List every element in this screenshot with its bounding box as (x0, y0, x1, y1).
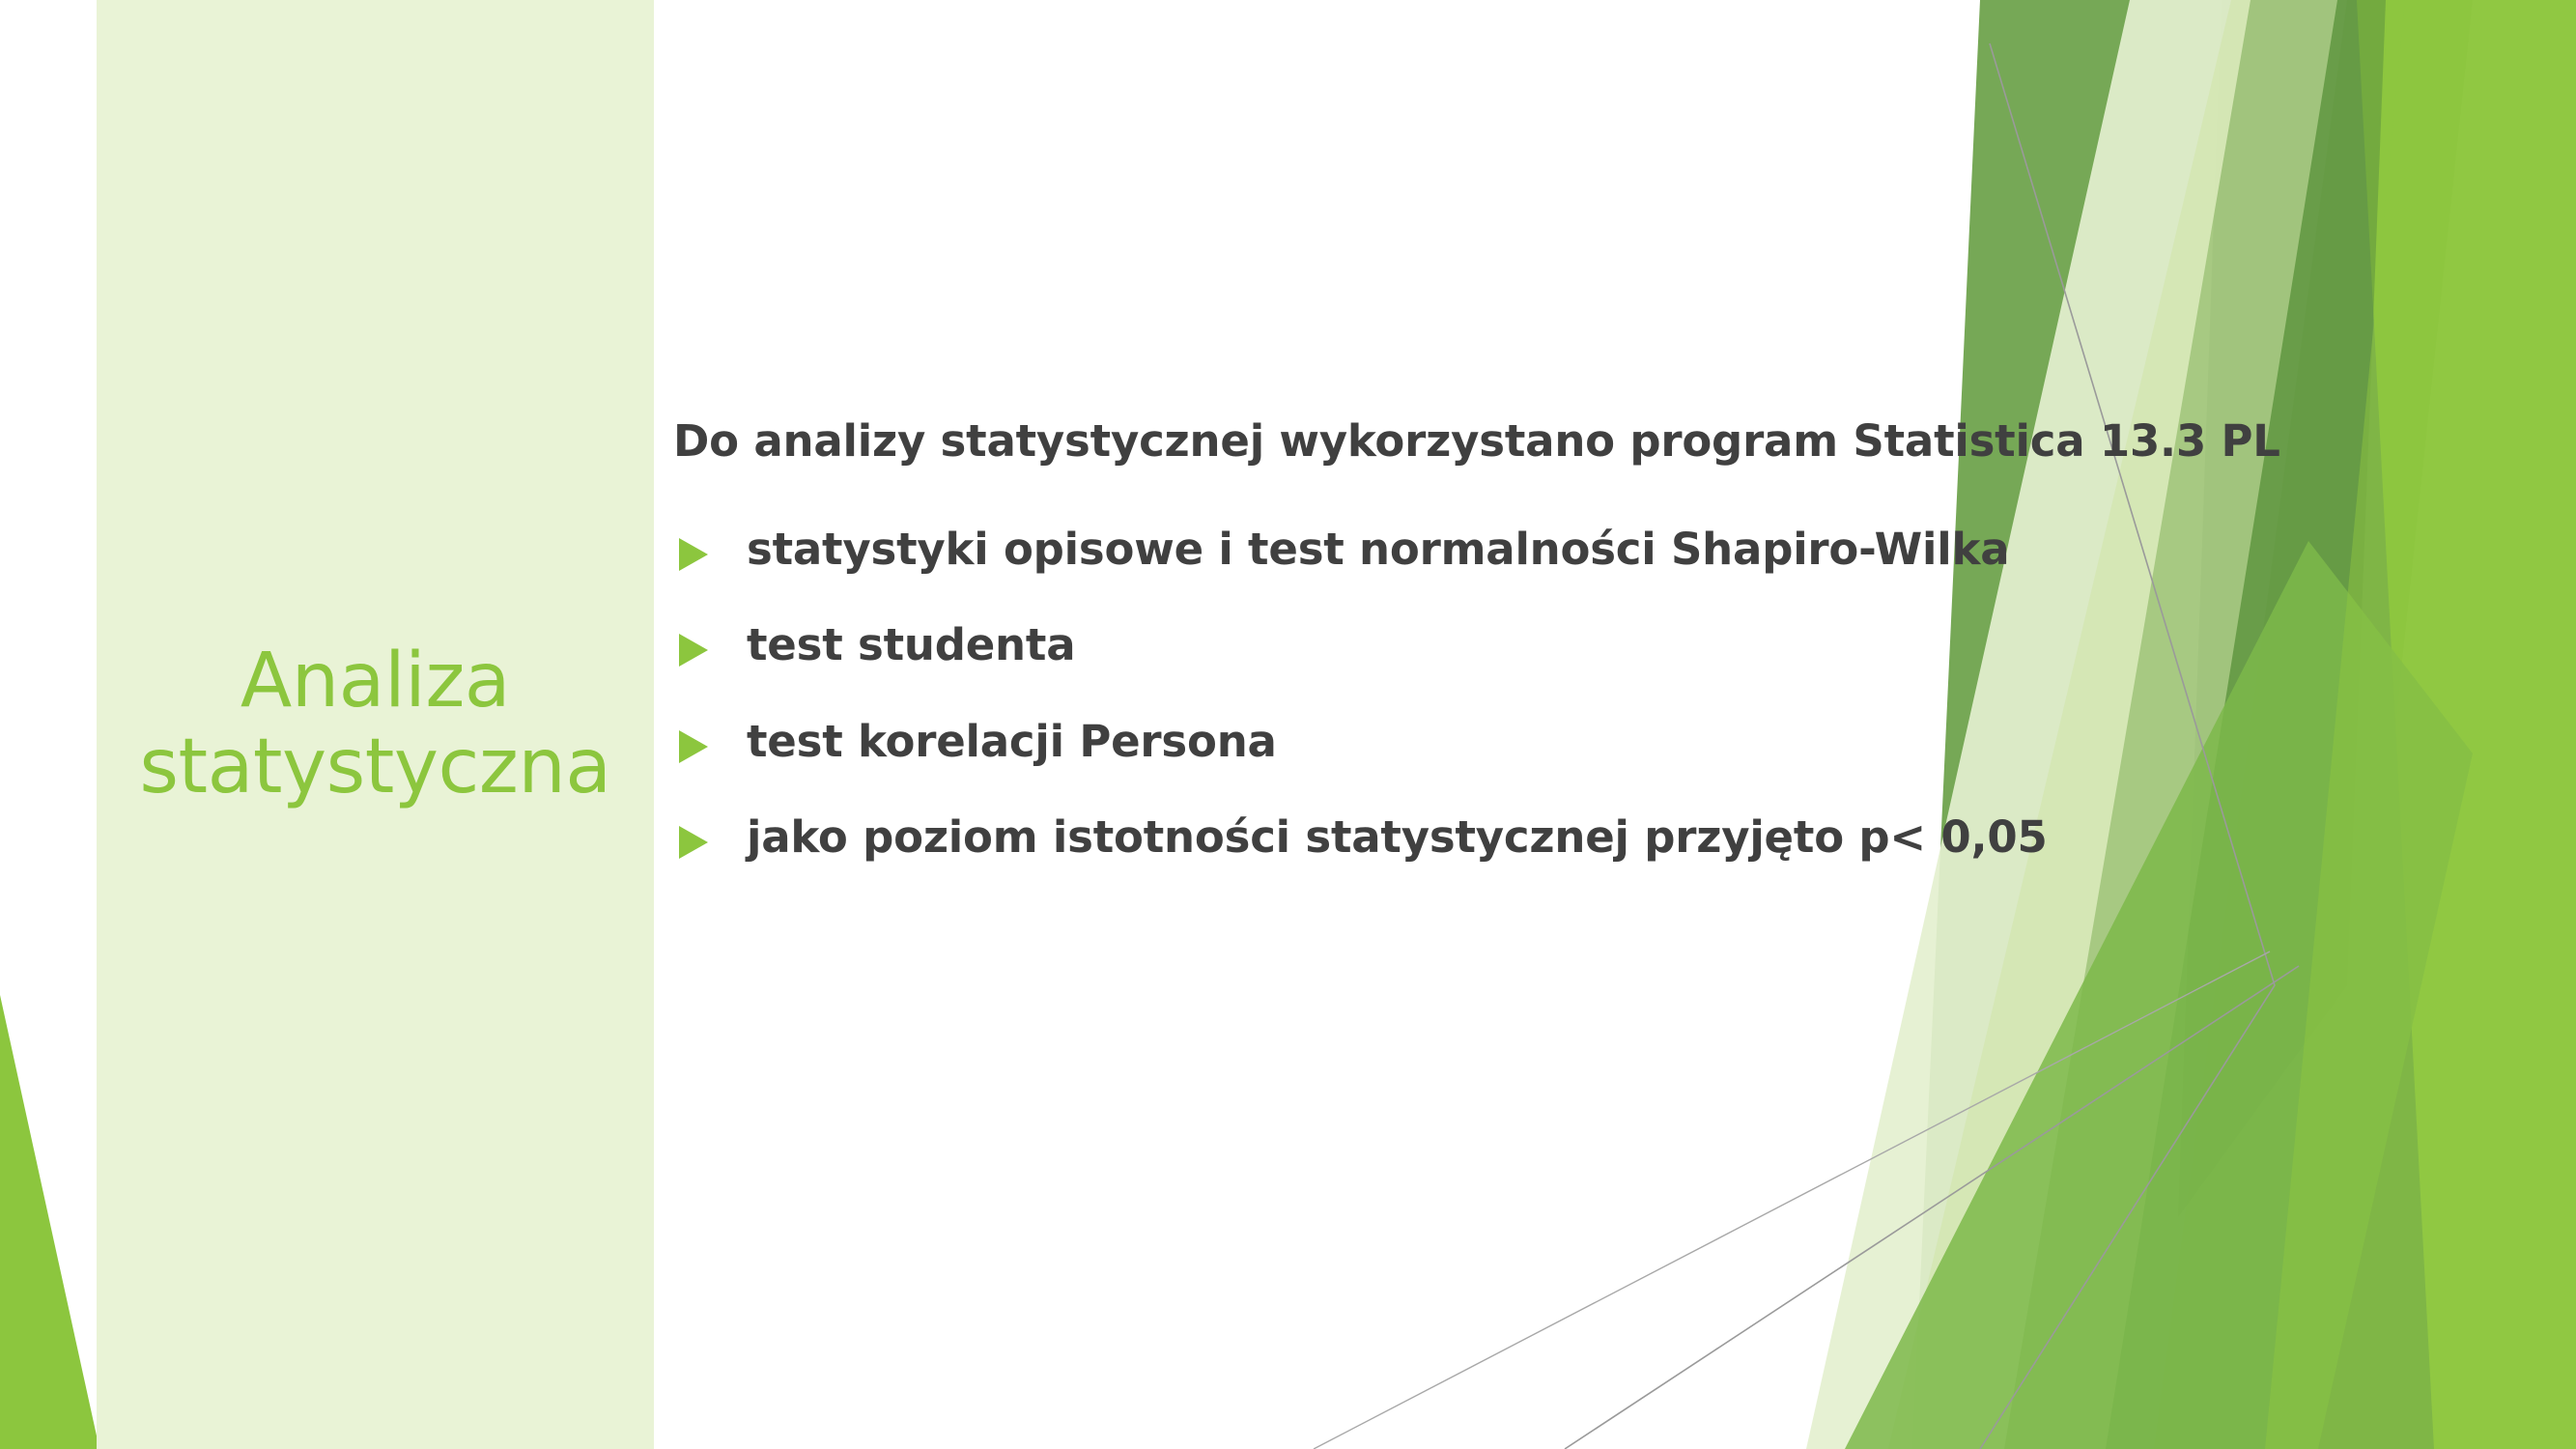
title-panel: Analiza statystyczna (97, 0, 654, 1449)
hairline-shallow (1565, 966, 2299, 1449)
triangle-right-icon (677, 729, 710, 764)
right-green-wash (2265, 0, 2576, 1449)
triangle-right-icon (677, 825, 710, 860)
bottom-left-green-wedge (0, 995, 99, 1449)
list-item-label: test studenta (747, 622, 1075, 668)
lead-paragraph: Do analizy statystycznej wykorzystano pr… (673, 415, 2180, 467)
list-item-label: statystyki opisowe i test normalności Sh… (747, 526, 2009, 572)
right-bright-green-band-2 (2318, 0, 2576, 1449)
list-item[interactable]: jako poziom istotności statystycznej prz… (673, 814, 2180, 860)
slide-canvas: Analiza statystyczna Do analizy statysty… (0, 0, 2576, 1449)
list-item-label: jako poziom istotności statystycznej prz… (747, 814, 2048, 860)
hairline-long-diagonal (1314, 952, 2270, 1449)
content-placeholder: Do analizy statystycznej wykorzystano pr… (673, 415, 2180, 860)
right-bright-green-band (2154, 0, 2576, 1449)
list-item[interactable]: statystyki opisowe i test normalności Sh… (673, 526, 2180, 572)
dark-green-overlap-lens (2178, 0, 2386, 1217)
list-item[interactable]: test studenta (673, 622, 2180, 668)
page-title: Analiza statystyczna (139, 639, 610, 810)
triangle-right-icon (677, 633, 710, 668)
triangle-right-icon (677, 537, 710, 572)
list-item[interactable]: test korelacji Persona (673, 719, 2180, 764)
list-item-label: test korelacji Persona (747, 719, 1277, 764)
